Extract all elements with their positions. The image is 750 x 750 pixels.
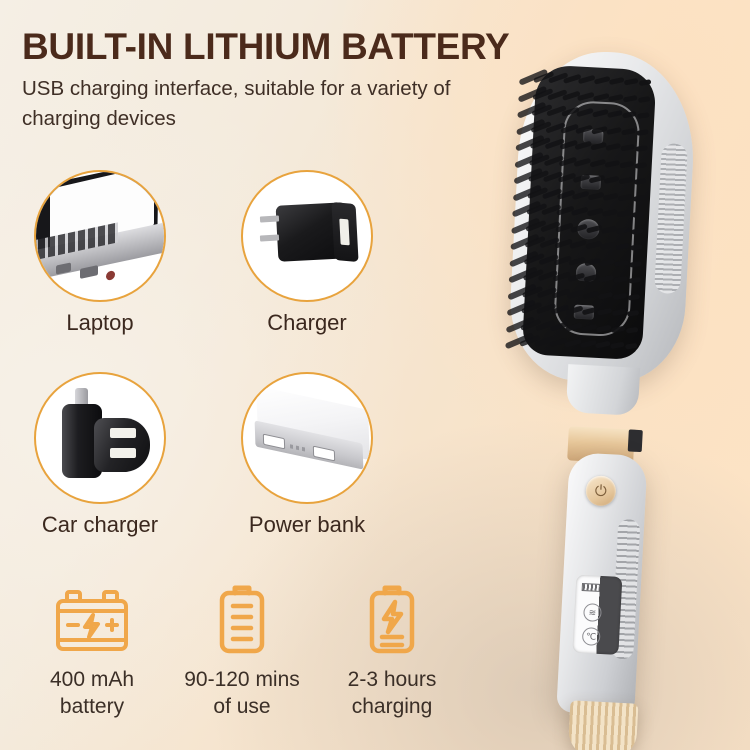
device-label-laptop: Laptop	[66, 310, 133, 336]
car-charger-usb-1	[110, 428, 136, 438]
product-infographic: BUILT-IN LITHIUM BATTERY USB charging in…	[0, 0, 750, 750]
charger-prong-bottom	[260, 235, 279, 242]
laptop-port-audio	[106, 270, 115, 281]
product-image: ⏻ ≋ ℃	[455, 30, 750, 750]
device-label-charger: Charger	[267, 310, 346, 336]
spec-runtime-text: 90-120 mins of use	[172, 666, 312, 720]
spec-capacity-line2: battery	[22, 693, 162, 720]
charger-usb-port	[339, 219, 349, 246]
device-label-power-bank: Power bank	[249, 512, 365, 538]
car-charger-head	[94, 418, 150, 472]
battery-bolt-icon	[322, 580, 462, 660]
bristle-pad	[522, 64, 657, 360]
brush-head	[506, 48, 698, 387]
spec-charge-time: 2-3 hours charging	[322, 580, 462, 720]
spec-capacity-line1: 400 mAh	[22, 666, 162, 693]
badge-ring	[34, 372, 166, 504]
device-label-car-charger: Car charger	[42, 512, 158, 538]
pad-node	[576, 263, 597, 282]
brush-neck	[566, 364, 640, 416]
spec-capacity-text: 400 mAh battery	[22, 666, 162, 720]
brush-head-vent	[654, 143, 688, 294]
battery-bars-icon	[172, 580, 312, 660]
handle-base-cap	[568, 700, 639, 750]
temperature-button[interactable]: ℃	[582, 627, 601, 646]
device-badge-laptop: Laptop	[34, 170, 166, 302]
pad-node	[574, 305, 595, 320]
charger-prong-top	[260, 216, 279, 223]
power-button[interactable]: ⏻	[585, 475, 617, 507]
spec-runtime: 90-120 mins of use	[172, 580, 312, 720]
spec-charge-time-text: 2-3 hours charging	[322, 666, 462, 720]
pad-node	[583, 129, 604, 144]
laptop-port-usb	[80, 265, 98, 279]
brush-handle: ⏻ ≋ ℃	[556, 452, 648, 716]
spec-charge-time-line1: 2-3 hours	[322, 666, 462, 693]
mode-button[interactable]: ≋	[583, 603, 602, 622]
device-badge-charger: Charger	[241, 170, 373, 302]
battery-level-indicator	[582, 583, 600, 592]
page-subtitle: USB charging interface, suitable for a v…	[22, 74, 492, 134]
spec-runtime-line2: of use	[172, 693, 312, 720]
control-display-panel: ≋ ℃	[572, 575, 622, 655]
badge-ring	[34, 170, 166, 302]
car-battery-icon	[22, 580, 162, 660]
page-title: BUILT-IN LITHIUM BATTERY	[22, 26, 509, 68]
spec-runtime-line1: 90-120 mins	[172, 666, 312, 693]
spec-charge-time-line2: charging	[322, 693, 462, 720]
device-badge-power-bank: Power bank	[241, 372, 373, 504]
badge-ring	[241, 170, 373, 302]
device-badge-car-charger: Car charger	[34, 372, 166, 504]
pad-node	[580, 175, 601, 190]
badge-ring	[241, 372, 373, 504]
spec-capacity: 400 mAh battery	[22, 580, 162, 720]
car-charger-usb-2	[110, 448, 136, 458]
